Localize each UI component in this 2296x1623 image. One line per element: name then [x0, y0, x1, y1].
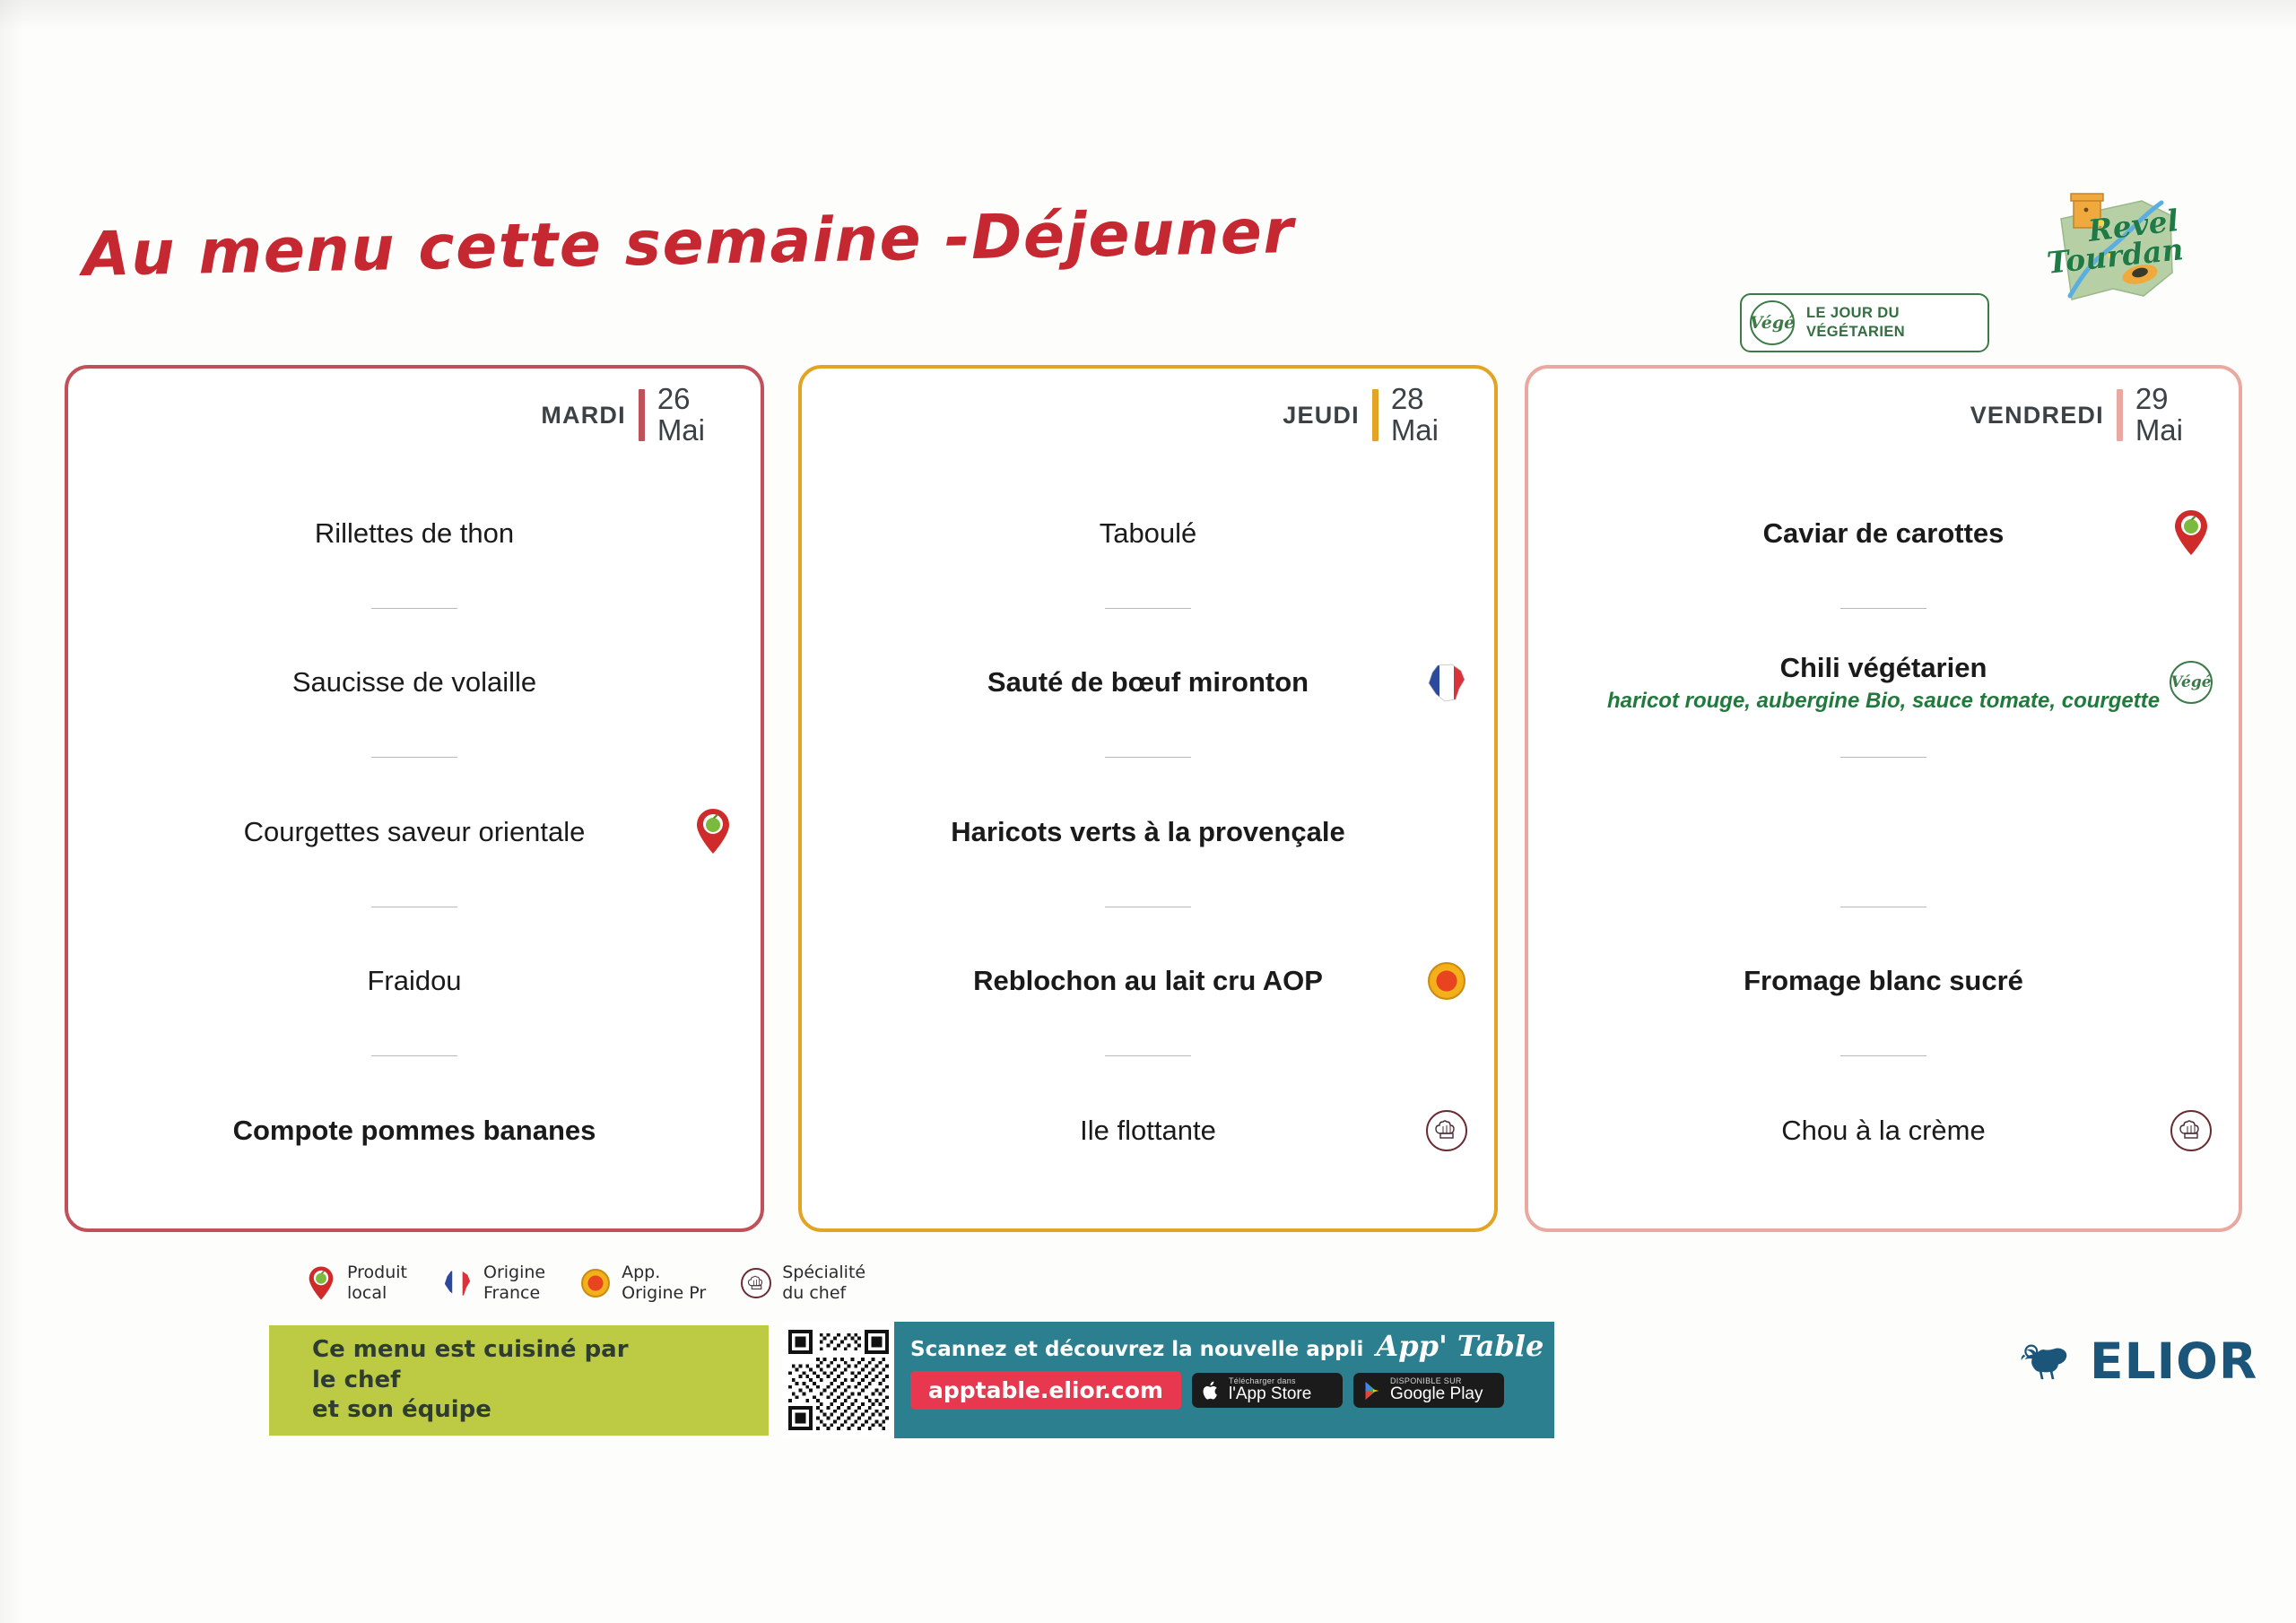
menu-item-name: Caviar de carottes [1684, 516, 2083, 550]
legend-item-text: Produit local [347, 1263, 407, 1304]
legend-item-text: Spécialité du chef [782, 1263, 865, 1304]
menu-item: Haricots verts à la provençale [802, 757, 1494, 907]
day-date: 28 Mai [1391, 384, 1439, 447]
menu-item: Sauté de bœuf mironton [802, 608, 1494, 758]
menu-item: Rillettes de thon [68, 458, 761, 608]
day-name: MARDI [541, 402, 626, 430]
google-play-label: DISPONIBLE SUR Google Play [1390, 1377, 1483, 1403]
elior-logo: ELIOR [2020, 1332, 2257, 1390]
legend-line2: France [483, 1283, 545, 1304]
chef-hat-icon [738, 1263, 774, 1303]
aop-icon [1422, 957, 1471, 1005]
menu-item-name: Fromage blanc sucré [1665, 964, 2102, 997]
elior-wordmark: ELIOR [2090, 1332, 2257, 1390]
menu-item: Chili végétarien haricot rouge, aubergin… [1528, 608, 2239, 758]
vege-badge-label: Végé [1750, 313, 1795, 333]
bison-icon [2020, 1340, 2077, 1383]
france-flag-icon [1422, 658, 1471, 707]
day-accent-bar [1372, 389, 1378, 441]
apple-icon [1200, 1378, 1222, 1403]
chef-banner-line3: et son équipe [312, 1395, 769, 1426]
day-date-number: 29 [2135, 384, 2183, 415]
menu-item-name: Sauté de bœuf mironton [909, 665, 1387, 699]
menu-item-name: Ile flottante [1001, 1114, 1295, 1147]
day-date-number: 28 [1391, 384, 1439, 415]
legend-item-text: Origine France [483, 1263, 545, 1304]
menu-item: Fromage blanc sucré [1528, 907, 2239, 1056]
legend-item-produit-local: Produit local [303, 1263, 407, 1304]
chef-banner-line1: Ce menu est cuisiné par [312, 1335, 769, 1366]
day-date: 29 Mai [2135, 384, 2183, 447]
day-name: VENDREDI [1970, 402, 2104, 430]
menu-item-name: Rillettes de thon [236, 516, 593, 550]
menu-item-name: Saucisse de volaille [213, 665, 615, 699]
menu-item-name: Fraidou [288, 964, 540, 997]
day-date-month: Mai [657, 415, 705, 447]
legend-item-specialite-chef: Spécialité du chef [738, 1263, 865, 1304]
vege-icon: Végé [2167, 658, 2215, 707]
google-play-big: Google Play [1390, 1385, 1483, 1403]
apptable-brand: App' Table [1376, 1329, 1544, 1363]
menu-item-list: Rillettes de thon Saucisse de volaille C… [68, 458, 761, 1205]
legend-line1: Spécialité [782, 1263, 865, 1283]
menu-item: Ile flottante [802, 1055, 1494, 1205]
menu-item: Courgettes saveur orientale [68, 757, 761, 907]
google-play-icon [1361, 1378, 1383, 1403]
legend-line1: App. [622, 1263, 706, 1283]
google-play-button[interactable]: DISPONIBLE SUR Google Play [1353, 1373, 1504, 1408]
legend-line2: Origine Pr [622, 1283, 706, 1304]
menu-item-list: Caviar de carottes Chili végétarien hari… [1528, 458, 2239, 1205]
menu-item-name: Reblochon au lait cru AOP [894, 964, 1402, 997]
menu-item: Chou à la crème [1528, 1055, 2239, 1205]
vege-banner-line2: VÉGÉTARIEN [1806, 323, 1905, 342]
app-store-label: Télécharger dans l'App Store [1229, 1377, 1311, 1403]
vege-badge-icon: Végé [1750, 300, 1795, 345]
menu-item: Reblochon au lait cru AOP [802, 907, 1494, 1056]
menu-item: Taboulé [802, 458, 1494, 608]
legend-item-origine-france: Origine France [439, 1263, 545, 1304]
local-pin-icon [689, 807, 737, 855]
day-card-vendredi: VENDREDI 29 Mai Caviar de carottes [1525, 365, 2242, 1232]
menu-item-name: Haricots verts à la provençale [872, 815, 1423, 848]
menu-item-name: Taboulé [1021, 516, 1276, 550]
france-flag-icon [439, 1263, 475, 1303]
day-card-jeudi: JEUDI 28 Mai Taboulé Sauté de bœuf miron… [798, 365, 1498, 1232]
day-accent-bar [639, 389, 645, 441]
menu-item-list: Taboulé Sauté de bœuf mironton [802, 458, 1494, 1205]
menu-item: Saucisse de volaille [68, 608, 761, 758]
apptable-headline: Scannez et découvrez la nouvelle appli A… [910, 1329, 1544, 1363]
menu-item: Fraidou [68, 907, 761, 1056]
chef-hat-icon [2167, 1107, 2215, 1155]
chef-banner-line2: le chef [312, 1366, 769, 1396]
local-pin-icon [2167, 508, 2215, 557]
menu-item-empty [1528, 757, 2239, 907]
legend-item-appellation-origine: App. Origine Pr [578, 1263, 706, 1304]
vegetarian-day-banner: Végé LE JOUR DU VÉGÉTARIEN [1740, 293, 1989, 352]
day-header: MARDI 26 Mai [541, 386, 705, 444]
menu-item-subtitle: haricot rouge, aubergine Bio, sauce toma… [1580, 689, 2187, 714]
day-name: JEUDI [1283, 402, 1360, 430]
day-header: VENDREDI 29 Mai [1970, 386, 2183, 444]
apptable-content: Scannez et découvrez la nouvelle appli A… [894, 1322, 1554, 1438]
legend-line1: Origine [483, 1263, 545, 1283]
apptable-actions: apptable.elior.com Télécharger dans l'Ap… [910, 1371, 1544, 1410]
menu-item-name: Chili végétarien [1701, 651, 2066, 684]
chef-hat-icon [1422, 1107, 1471, 1155]
day-date-month: Mai [2135, 415, 2183, 447]
legend-line1: Produit [347, 1263, 407, 1283]
legend-line2: du chef [782, 1283, 865, 1304]
menu-item: Compote pommes bananes [68, 1055, 761, 1205]
local-pin-icon [303, 1263, 339, 1303]
apptable-banner[interactable]: Scannez et découvrez la nouvelle appli A… [783, 1322, 1460, 1438]
day-card-mardi: MARDI 26 Mai Rillettes de thon Saucisse … [65, 365, 764, 1232]
menu-item-name: Compote pommes bananes [154, 1114, 675, 1147]
day-date: 26 Mai [657, 384, 705, 447]
vege-banner-line1: LE JOUR DU [1806, 304, 1905, 323]
vege-banner-text: LE JOUR DU VÉGÉTARIEN [1806, 304, 1905, 343]
revel-tourdan-logo: Revel Tourdan [2036, 188, 2202, 305]
qr-code-icon[interactable] [788, 1330, 889, 1430]
app-store-button[interactable]: Télécharger dans l'App Store [1192, 1373, 1343, 1408]
chef-banner: Ce menu est cuisiné par le chef et son é… [269, 1325, 769, 1436]
day-header: JEUDI 28 Mai [1283, 386, 1439, 444]
menu-item-name: Chou à la crème [1702, 1114, 2064, 1147]
day-accent-bar [2117, 389, 2123, 441]
legend-line2: local [347, 1283, 407, 1304]
day-date-number: 26 [657, 384, 705, 415]
page-title: Au menu cette semaine -Déjeuner [82, 196, 1295, 291]
apptable-scan-text: Scannez et découvrez la nouvelle appli [910, 1338, 1363, 1361]
legend: Produit local Origine France [303, 1263, 865, 1304]
menu-page: Au menu cette semaine -Déjeuner Végé LE … [0, 0, 2296, 1623]
app-store-big: l'App Store [1229, 1385, 1311, 1403]
legend-item-text: App. Origine Pr [622, 1263, 706, 1304]
aop-icon [578, 1263, 613, 1303]
menu-item: Caviar de carottes [1528, 458, 2239, 608]
day-date-month: Mai [1391, 415, 1439, 447]
menu-item-name: Courgettes saveur orientale [165, 815, 665, 848]
apptable-url-button[interactable]: apptable.elior.com [910, 1371, 1181, 1410]
